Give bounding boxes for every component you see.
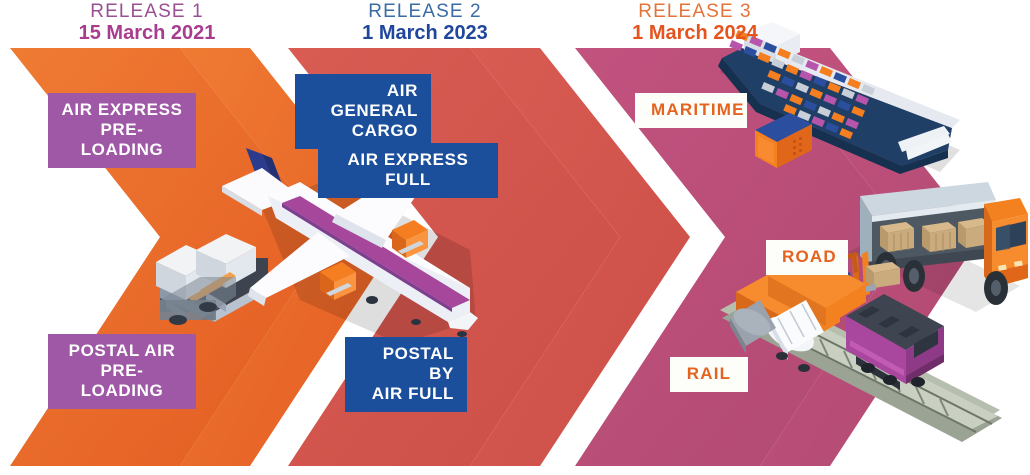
release-2-heading: RELEASE 2 bbox=[310, 2, 540, 22]
release-2-header: RELEASE 2 1 March 2023 bbox=[310, 2, 540, 44]
release-3-header: RELEASE 3 1 March 2024 bbox=[580, 2, 810, 44]
label-rail: RAIL bbox=[670, 357, 748, 392]
label-road: ROAD bbox=[766, 240, 848, 275]
release-2-date: 1 March 2023 bbox=[310, 23, 540, 44]
label-air-express-full: AIR EXPRESS FULL bbox=[318, 143, 498, 198]
label-air-general-cargo: AIR GENERAL CARGO bbox=[295, 74, 431, 149]
label-maritime: MARITIME bbox=[635, 93, 747, 128]
release-3-heading: RELEASE 3 bbox=[580, 2, 810, 22]
label-postal-by-air-full: POSTAL BY AIR FULL bbox=[345, 337, 467, 412]
release-1-header: RELEASE 1 15 March 2021 bbox=[22, 2, 272, 44]
release-1-heading: RELEASE 1 bbox=[22, 2, 272, 22]
release-3-date: 1 March 2024 bbox=[580, 23, 810, 44]
release-1-date: 15 March 2021 bbox=[22, 23, 272, 44]
label-air-express-pre-loading: AIR EXPRESS PRE-LOADING bbox=[48, 93, 196, 168]
infographic-canvas: RELEASE 1 15 March 2021 RELEASE 2 1 Marc… bbox=[0, 0, 1030, 475]
label-postal-air-pre-loading: POSTAL AIR PRE-LOADING bbox=[48, 334, 196, 409]
